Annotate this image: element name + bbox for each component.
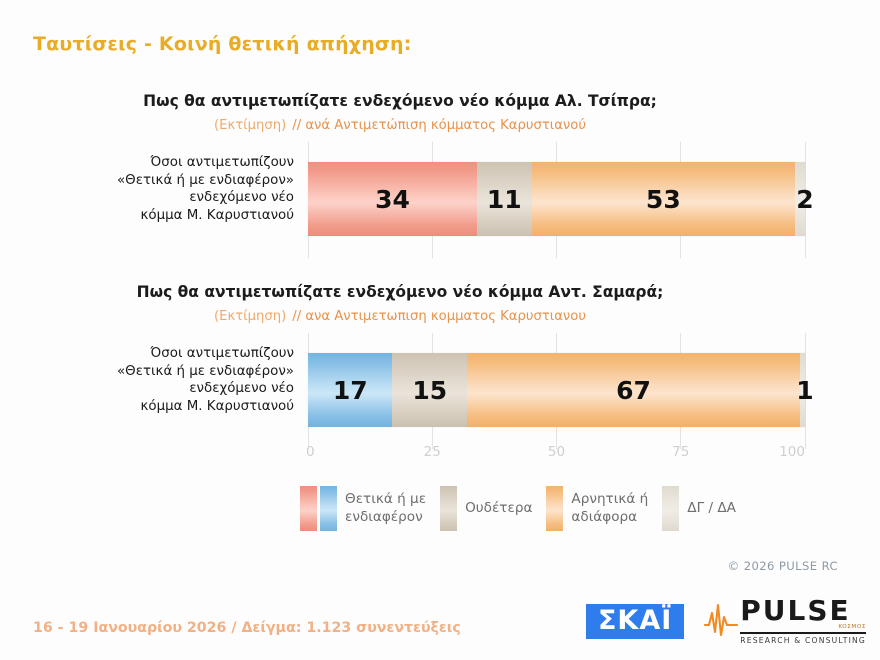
legend-swatch: [440, 486, 457, 531]
bar-segment[interactable]: 1: [800, 353, 805, 427]
legend-label: Θετικά ή με ενδιαφέρον: [345, 491, 426, 526]
legend-label: ΔΓ / ΔΑ: [687, 500, 736, 517]
plot-area: 3411532: [308, 154, 805, 244]
bar-segment-value: 17: [333, 378, 368, 403]
bar-segment-value: 67: [616, 378, 651, 403]
chart-title: Πως θα αντιμετωπίζατε ενδεχόμενο νέο κόμ…: [0, 92, 800, 110]
legend-label: Αρνητικά ή αδιάφορα: [571, 491, 648, 526]
legend: Θετικά ή με ενδιαφέρονΟυδέτεραΑρνητικά ή…: [300, 486, 750, 531]
legend-swatch: [546, 486, 563, 531]
pulse-logo: PULSE KOΣMOΣ RESEARCH & CONSULTING: [704, 598, 866, 645]
pulse-wordmark: PULSE KOΣMOΣ RESEARCH & CONSULTING: [740, 598, 866, 645]
breakdown-label: // ανα Αντιμετωπιση κομματος Καρυστιανου: [286, 309, 586, 324]
legend-swatch: [662, 486, 679, 531]
axis-tick-label: 100: [779, 444, 805, 460]
bar-segment[interactable]: 11: [477, 162, 532, 236]
row-label: Όσοι αντιμετωπίζουν «Θετικά ή με ενδιαφέ…: [64, 154, 294, 225]
stacked-bar[interactable]: 1715671: [308, 353, 805, 427]
page-title: Ταυτίσεις - Κοινή θετική απήχηση:: [33, 33, 412, 55]
bar-segment[interactable]: 15: [392, 353, 467, 427]
row-label-line: «Θετικά ή με ενδιαφέρον»: [64, 172, 294, 190]
skai-logo: ΣΚΑΪ: [586, 604, 684, 639]
bar-segment[interactable]: 17: [308, 353, 392, 427]
legend-item[interactable]: Ουδέτερα: [440, 486, 532, 531]
row-label-line: ενδεχόμενο νέο: [64, 380, 294, 398]
row-label-line: «Θετικά ή με ενδιαφέρον»: [64, 363, 294, 381]
chart-title: Πως θα αντιμετωπίζατε ενδεχόμενο νέο κόμ…: [0, 283, 800, 301]
bar-segment-value: 15: [412, 378, 447, 403]
row-label-line: ενδεχόμενο νέο: [64, 189, 294, 207]
legend-swatch: [300, 486, 317, 531]
axis-tick-label: 25: [424, 444, 441, 460]
bar-segment-value: 1: [796, 378, 813, 403]
pulse-word: PULSE: [740, 598, 866, 625]
bar-segment[interactable]: 2: [795, 162, 805, 236]
estimate-label: (Εκτίμηση): [214, 309, 286, 324]
chart-subtitle: (Εκτίμηση)// ανα Αντιμετωπιση κομματος Κ…: [0, 309, 800, 324]
bar-segment-value: 53: [646, 187, 681, 212]
chart-subtitle: (Εκτίμηση)// ανά Αντιμετώπιση κόμματος Κ…: [0, 118, 800, 133]
pulse-waveform-icon: [704, 601, 738, 641]
axis-tick-label: 50: [548, 444, 565, 460]
bar-segment-value: 34: [375, 187, 410, 212]
row-label: Όσοι αντιμετωπίζουν «Θετικά ή με ενδιαφέ…: [64, 345, 294, 416]
axis-tick-label: 75: [672, 444, 689, 460]
bar-segment-value: 2: [796, 187, 813, 212]
x-axis: 0255075100: [308, 444, 805, 466]
estimate-label: (Εκτίμηση): [214, 118, 286, 133]
row-label-line: Όσοι αντιμετωπίζουν: [64, 154, 294, 172]
copyright-text: © 2026 PULSE RC: [0, 559, 838, 573]
row-label-line: κόμμα Μ. Καρυστιανού: [64, 207, 294, 225]
plot-area: 1715671: [308, 345, 805, 435]
pulse-tagline: RESEARCH & CONSULTING: [740, 632, 866, 645]
fieldwork-note: 16 - 19 Ιανουαρίου 2026 / Δείγμα: 1.123 …: [33, 620, 461, 636]
row-label-line: Όσοι αντιμετωπίζουν: [64, 345, 294, 363]
legend-label: Ουδέτερα: [465, 500, 532, 517]
breakdown-label: // ανά Αντιμετώπιση κόμματος Καρυστιανού: [286, 118, 586, 133]
row-label-line: κόμμα Μ. Καρυστιανού: [64, 398, 294, 416]
bar-segment[interactable]: 53: [532, 162, 795, 236]
bar-segment[interactable]: 34: [308, 162, 477, 236]
bar-segment-value: 11: [487, 187, 522, 212]
logo-group: ΣΚΑΪ PULSE KOΣMOΣ RESEARCH & CONSULTING: [586, 598, 866, 645]
legend-item[interactable]: ΔΓ / ΔΑ: [662, 486, 736, 531]
legend-item[interactable]: Θετικά ή με ενδιαφέρον: [300, 486, 426, 531]
axis-tick-label: 0: [306, 444, 315, 460]
pulse-kosmos: KOΣMOΣ: [740, 624, 866, 630]
legend-swatch: [320, 486, 337, 531]
stacked-bar[interactable]: 3411532: [308, 162, 805, 236]
legend-item[interactable]: Αρνητικά ή αδιάφορα: [546, 486, 648, 531]
bar-segment[interactable]: 67: [467, 353, 800, 427]
